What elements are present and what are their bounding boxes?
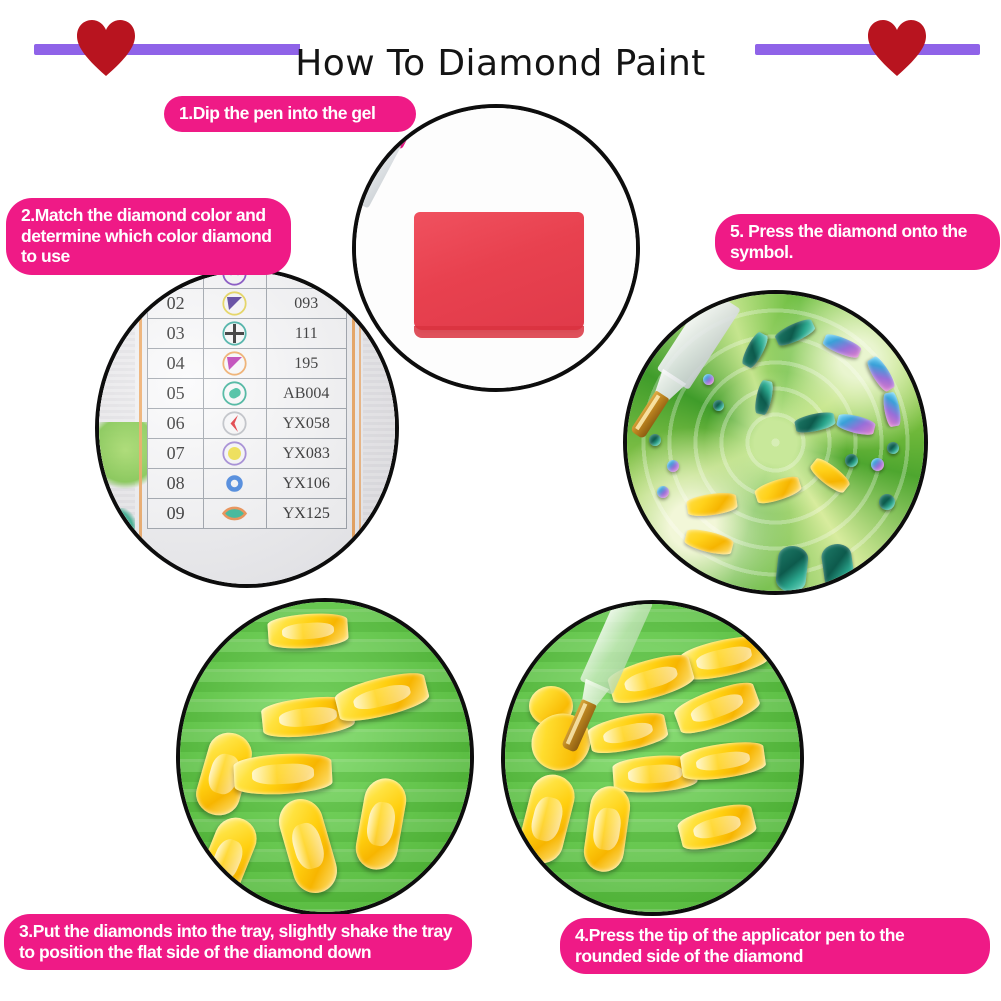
diamond-gem: [713, 400, 724, 411]
chart-symbol-cell: [204, 349, 266, 379]
diamond-gem: [739, 330, 770, 369]
color-chart-row: 08YX106: [148, 469, 347, 499]
color-chart-row: 04195: [148, 349, 347, 379]
color-chart-row: 05AB004: [148, 379, 347, 409]
color-chart-row: 09YX125: [148, 499, 347, 529]
step-1-label: 1.Dip the pen into the gel: [164, 96, 416, 132]
plus-cross-symbol: [222, 321, 247, 346]
diamond-gem: [821, 331, 862, 360]
yellow-diamond: [191, 811, 263, 908]
diamond-gem: [773, 316, 816, 348]
diamond-gem: [836, 412, 877, 438]
yellow-diamond: [686, 491, 738, 519]
chart-number-cell: 07: [148, 439, 204, 469]
printed-canvas: [627, 294, 924, 591]
diamond-gem: [657, 486, 669, 498]
step-2-label: 2.Match the diamond color and determine …: [6, 198, 291, 275]
chart-symbol-cell: [204, 469, 266, 499]
chart-number-cell: 09: [148, 499, 204, 529]
diamond-gem: [887, 442, 899, 454]
yellow-diamond: [753, 473, 803, 506]
yellow-diamond: [671, 677, 762, 740]
placing-diamond-on-canvas-photo: [623, 290, 928, 595]
yellow-dot-purple-ring-symbol: [222, 441, 247, 466]
green-tray: [180, 602, 470, 912]
chart-guide-line: [352, 272, 355, 584]
yellow-diamond: [676, 799, 759, 854]
pen-pressing-diamond-photo: [501, 600, 804, 916]
diamond-gem: [879, 494, 895, 510]
purple-triangle-symbol: [222, 291, 247, 316]
red-arrow-left-symbol: [222, 411, 247, 436]
chart-code-cell: YX125: [266, 499, 346, 529]
diamond-gem: [794, 410, 837, 435]
color-chart-row: 03111: [148, 319, 347, 349]
poster-canvas: How To Diamond Paint 1.Dip the pen into …: [0, 0, 1001, 1001]
applicator-pen: [623, 290, 742, 461]
diamond-gem: [667, 460, 679, 472]
chart-number-cell: 04: [148, 349, 204, 379]
yellow-diamond: [333, 667, 431, 726]
chart-code-cell: AB004: [266, 379, 346, 409]
chart-code-cell: 111: [266, 319, 346, 349]
chart-code-cell: YX083: [266, 439, 346, 469]
blue-ring-symbol: [222, 471, 247, 496]
diamond-gem: [820, 542, 856, 592]
teal-capsule-symbol: [222, 381, 247, 406]
color-chart-row: 07YX083: [148, 439, 347, 469]
yellow-diamond: [679, 738, 767, 783]
teal-symbol-blob: [95, 508, 135, 548]
yellow-diamond: [683, 526, 734, 557]
diamond-gem: [775, 545, 810, 594]
diamond-color-chart-photo: 02002093031110419505AB00406YX05807YX0830…: [95, 268, 399, 588]
chart-number-cell: 06: [148, 409, 204, 439]
chart-code-cell: 093: [266, 289, 346, 319]
pen-metal-tip: [561, 699, 597, 753]
color-chart-row: 06YX058: [148, 409, 347, 439]
chart-code-cell: YX058: [266, 409, 346, 439]
yellow-diamond: [515, 770, 579, 868]
step-4-label: 4.Press the tip of the applicator pen to…: [560, 918, 990, 974]
diamond-gem: [753, 379, 775, 415]
chart-code-cell: YX106: [266, 469, 346, 499]
yellow-diamond: [267, 611, 349, 650]
chart-guide-line: [139, 272, 142, 584]
chart-symbol-cell: [204, 379, 266, 409]
diamond-gem: [845, 454, 858, 467]
page-title: How To Diamond Paint: [0, 43, 1001, 84]
yellow-diamond: [274, 794, 343, 898]
chart-symbol-cell: [204, 409, 266, 439]
pen-metal-tip: [630, 390, 670, 439]
yellow-diamond: [233, 751, 333, 796]
chart-number-cell: 05: [148, 379, 204, 409]
magenta-triangle-symbol: [222, 351, 247, 376]
diamond-gem: [703, 374, 714, 385]
chart-code-cell: 195: [266, 349, 346, 379]
yellow-diamond: [352, 775, 409, 873]
placing-diamond-step-photo-1: [352, 104, 640, 392]
green-tray: [505, 604, 800, 912]
chart-number-cell: 08: [148, 469, 204, 499]
chart-symbol-cell: [204, 289, 266, 319]
chart-number-cell: 02: [148, 289, 204, 319]
diamond-gem: [882, 391, 903, 427]
chart-symbol-cell: [204, 439, 266, 469]
chart-symbol-cell: [204, 319, 266, 349]
yellow-diamond: [581, 784, 633, 875]
chart-number-cell: 03: [148, 319, 204, 349]
color-chart-table: 02002093031110419505AB00406YX05807YX0830…: [147, 268, 347, 529]
color-chart-row: 02093: [148, 289, 347, 319]
step-5-label: 5. Press the diamond onto the symbol.: [715, 214, 1000, 270]
diamond-gem: [865, 354, 898, 393]
diamond-gem: [871, 458, 884, 471]
diamonds-in-green-tray-photo: [176, 598, 474, 916]
teal-leaf-orange-outline-symbol: [222, 501, 247, 526]
chart-symbol-cell: [204, 499, 266, 529]
step-3-label: 3.Put the diamonds into the tray, slight…: [4, 914, 472, 970]
pink-gel-pad: [414, 212, 584, 330]
